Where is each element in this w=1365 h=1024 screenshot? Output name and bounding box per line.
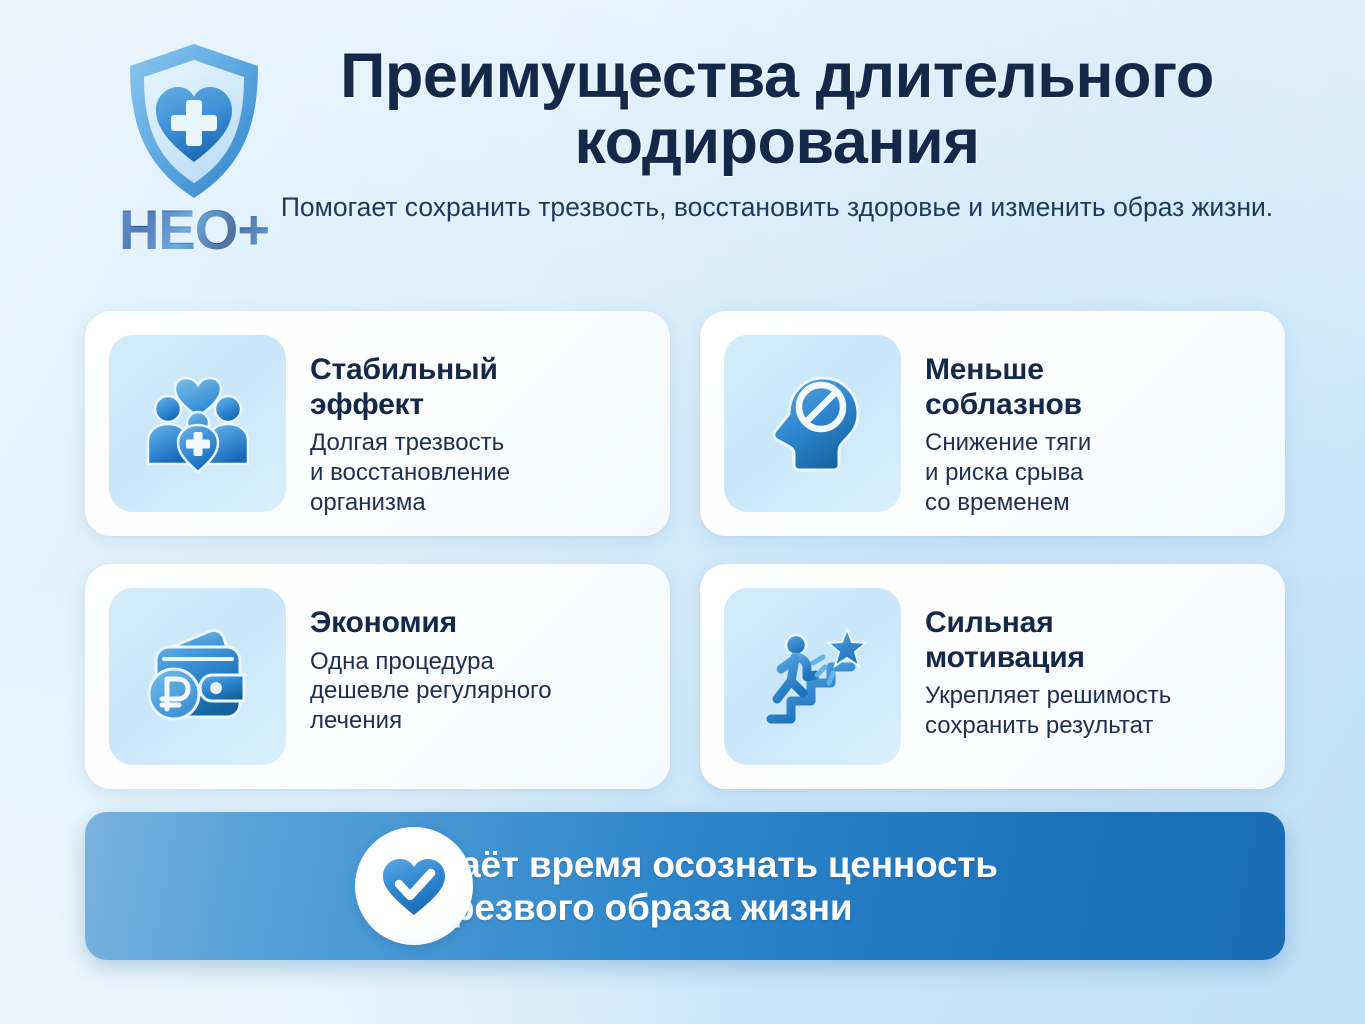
card-title: Экономия <box>310 606 644 641</box>
head-prohibition-icon <box>751 362 875 486</box>
card-title: Сильная мотивация <box>925 606 1259 675</box>
icon-tile <box>724 588 901 765</box>
benefits-grid: Стабильный эффект Долгая трезвость и вос… <box>85 311 1285 789</box>
card-title: Стабильный эффект <box>310 353 644 422</box>
card-title: Меньше соблазнов <box>925 353 1259 422</box>
header: НЕО+ Преимущества длительного кодировани… <box>0 0 1365 300</box>
wallet-ruble-icon <box>136 615 260 739</box>
card-text: Сильная мотивация Укрепляет решимость со… <box>925 588 1259 741</box>
card-description: Долгая трезвость и восстановление органи… <box>310 428 644 517</box>
family-heart-medical-icon <box>136 362 260 486</box>
person-stairs-star-icon <box>751 615 875 739</box>
shield-heart-cross-icon <box>118 38 270 206</box>
icon-tile <box>109 588 286 765</box>
heart-check-icon <box>379 851 449 921</box>
card-description: Укрепляет решимость сохранить результат <box>925 681 1259 741</box>
title-block: Преимущества длительного кодирования Пом… <box>272 44 1282 226</box>
benefit-card-less-temptation[interactable]: Меньше соблазнов Снижение тяги и риска с… <box>700 311 1285 536</box>
card-description: Снижение тяги и риска срыва со временем <box>925 428 1259 517</box>
brand-name: НЕО+ <box>119 202 269 258</box>
card-description: Одна процедура дешевле регулярного лечен… <box>310 647 644 736</box>
banner-badge <box>355 827 473 945</box>
card-text: Стабильный эффект Долгая трезвость и вос… <box>310 335 644 517</box>
page-title: Преимущества длительного кодирования <box>272 44 1282 175</box>
footer-banner[interactable]: Даёт время осознать ценность трезвого об… <box>85 812 1285 960</box>
card-text: Экономия Одна процедура дешевле регулярн… <box>310 588 644 736</box>
benefit-card-stable-effect[interactable]: Стабильный эффект Долгая трезвость и вос… <box>85 311 670 536</box>
banner-text: Даёт время осознать ценность трезвого об… <box>434 843 998 930</box>
benefit-card-savings[interactable]: Экономия Одна процедура дешевле регулярн… <box>85 564 670 789</box>
page-subtitle: Помогает сохранить трезвость, восстанови… <box>272 189 1282 226</box>
icon-tile <box>724 335 901 512</box>
icon-tile <box>109 335 286 512</box>
infographic-page: НЕО+ Преимущества длительного кодировани… <box>0 0 1365 1024</box>
benefit-card-motivation[interactable]: Сильная мотивация Укрепляет решимость со… <box>700 564 1285 789</box>
card-text: Меньше соблазнов Снижение тяги и риска с… <box>925 335 1259 517</box>
